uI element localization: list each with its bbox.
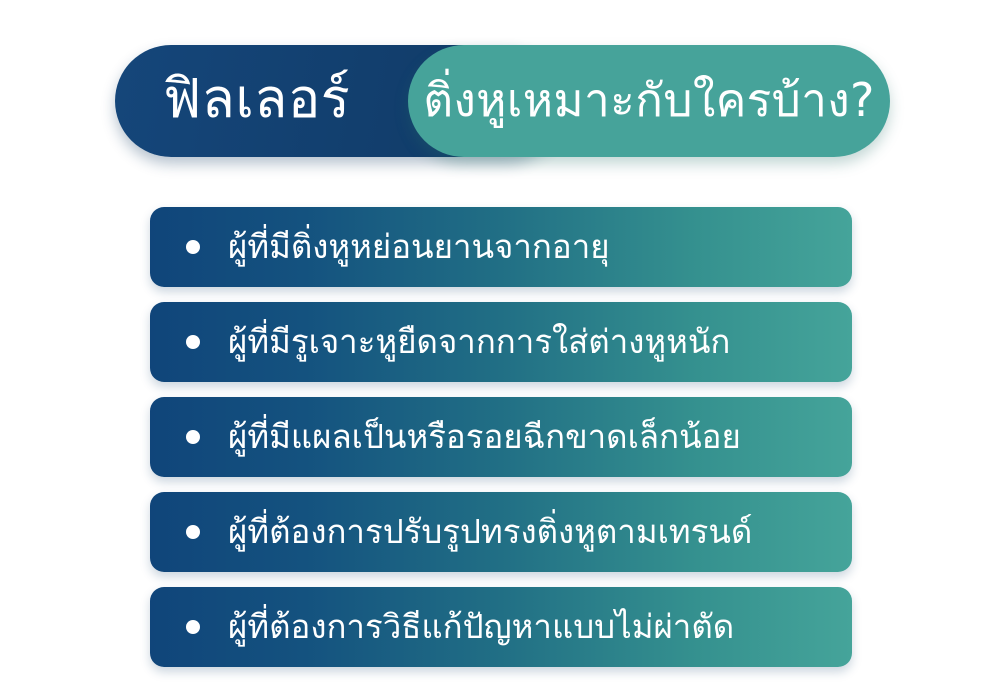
category-label: ฟิลเลอร์ (163, 72, 350, 130)
bullet-dot-icon (186, 620, 200, 634)
list-item: ผู้ที่มีติ่งหูหย่อนยานจากอายุ (150, 207, 852, 287)
list-item: ผู้ที่ต้องการปรับรูปทรงติ่งหูตามเทรนด์ (150, 492, 852, 572)
criteria-list: ผู้ที่มีติ่งหูหย่อนยานจากอายุ ผู้ที่มีรู… (150, 207, 852, 667)
bullet-dot-icon (186, 335, 200, 349)
bullet-dot-icon (186, 525, 200, 539)
list-item-label: ผู้ที่ต้องการปรับรูปทรงติ่งหูตามเทรนด์ (228, 515, 752, 550)
list-item: ผู้ที่มีแผลเป็นหรือรอยฉีกขาดเล็กน้อย (150, 397, 852, 477)
list-item: ผู้ที่มีรูเจาะหูยืดจากการใส่ต่างหูหนัก (150, 302, 852, 382)
list-item-label: ผู้ที่มีรูเจาะหูยืดจากการใส่ต่างหูหนัก (228, 325, 730, 360)
list-item-label: ผู้ที่ต้องการวิธีแก้ปัญหาแบบไม่ผ่าตัด (228, 610, 734, 645)
header-band: ฟิลเลอร์ ติ่งหูเหมาะกับใครบ้าง? (0, 45, 1000, 157)
list-item-label: ผู้ที่มีติ่งหูหย่อนยานจากอายุ (228, 230, 610, 265)
infographic-card: ฟิลเลอร์ ติ่งหูเหมาะกับใครบ้าง? ผู้ที่มี… (0, 0, 1000, 700)
list-item: ผู้ที่ต้องการวิธีแก้ปัญหาแบบไม่ผ่าตัด (150, 587, 852, 667)
title-pill: ติ่งหูเหมาะกับใครบ้าง? (408, 45, 890, 157)
page-title: ติ่งหูเหมาะกับใครบ้าง? (423, 77, 875, 126)
list-item-label: ผู้ที่มีแผลเป็นหรือรอยฉีกขาดเล็กน้อย (228, 420, 741, 455)
bullet-dot-icon (186, 240, 200, 254)
bullet-dot-icon (186, 430, 200, 444)
